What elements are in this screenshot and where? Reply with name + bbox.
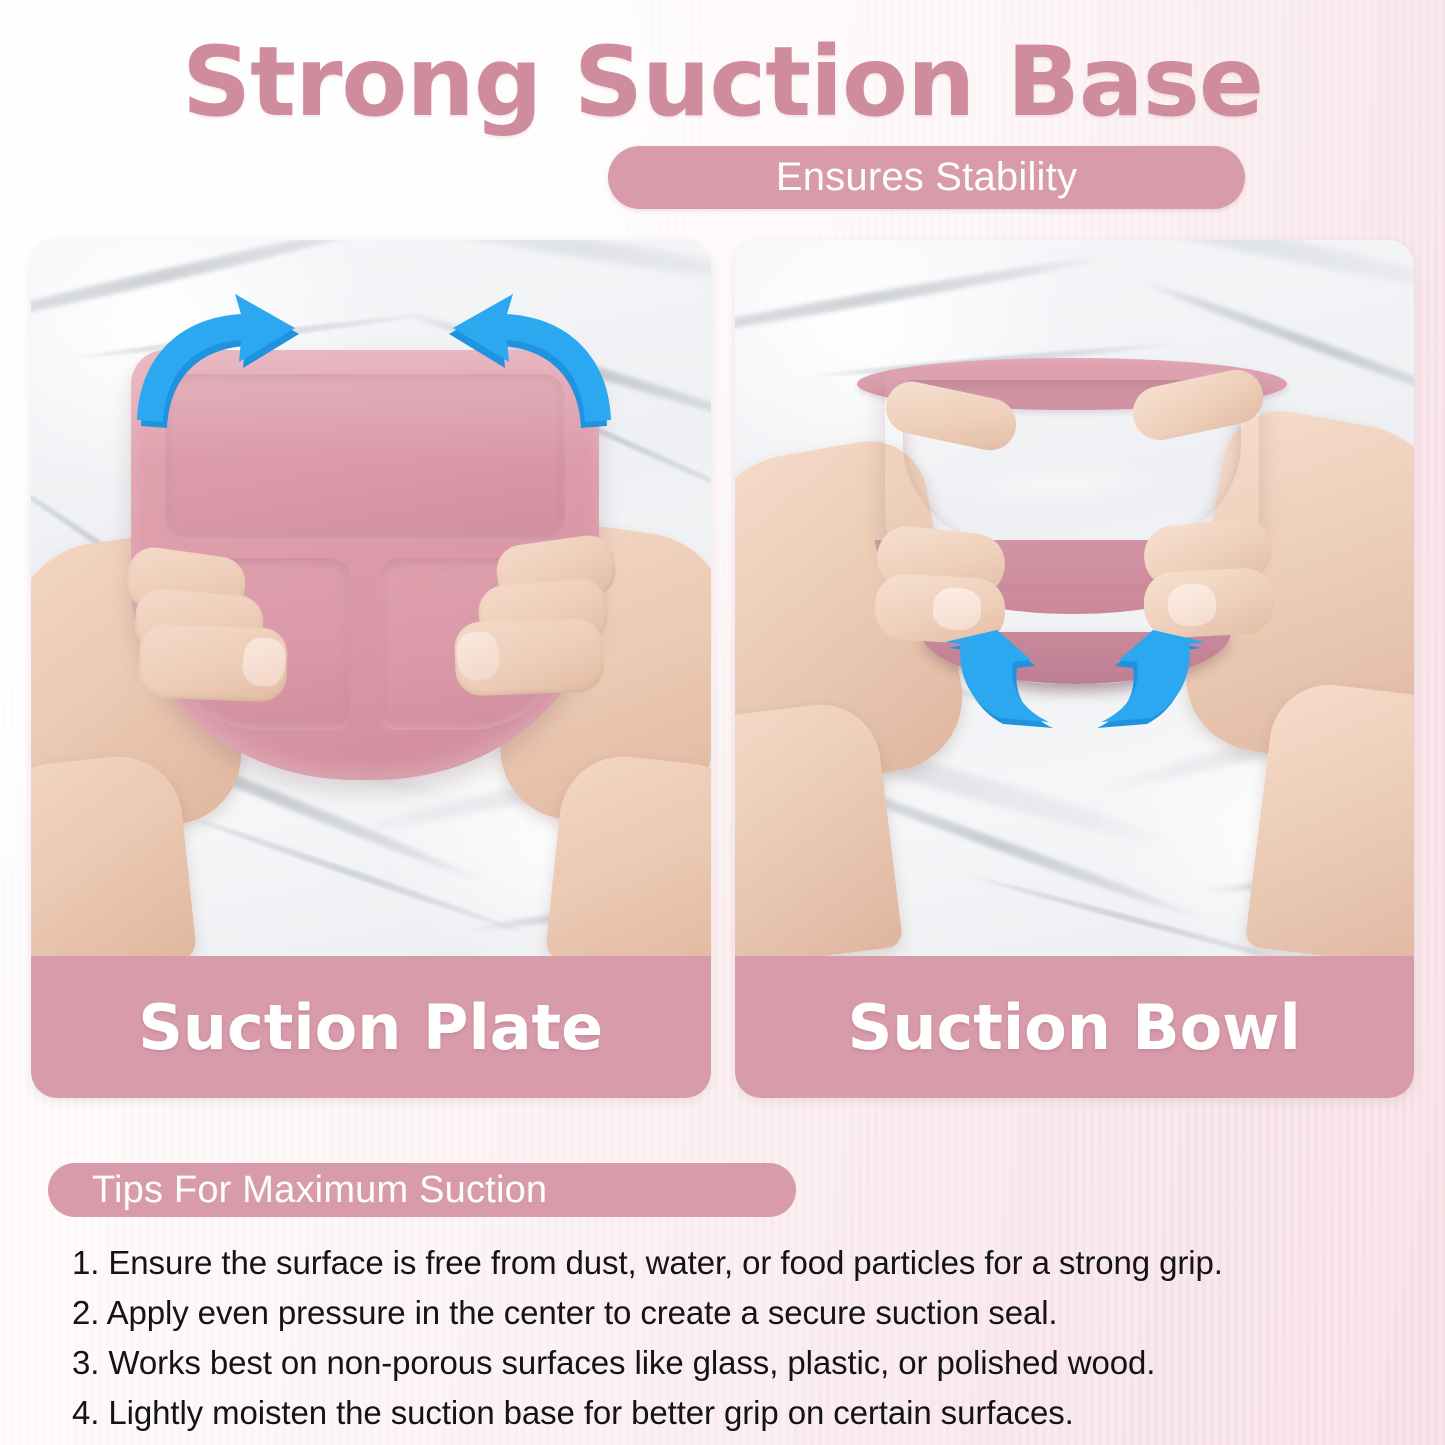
plate-scene — [31, 240, 711, 956]
tip-item-4: 4. Lightly moisten the suction base for … — [72, 1388, 1392, 1438]
tips-heading-text: Tips For Maximum Suction — [92, 1169, 547, 1212]
page-title: Strong Suction Base — [0, 34, 1445, 130]
blue-curved-arrow-right-icon — [431, 294, 621, 434]
caption-label: Suction Bowl — [848, 991, 1301, 1064]
blue-curved-arrow-left-icon — [127, 294, 317, 434]
product-panels: Suction Plate — [31, 240, 1414, 1098]
blue-up-arrow-right-icon — [1075, 618, 1205, 728]
panel-suction-bowl: Suction Bowl — [735, 240, 1415, 1098]
tips-heading-badge: Tips For Maximum Suction — [48, 1163, 796, 1217]
tip-item-2: 2. Apply even pressure in the center to … — [72, 1288, 1392, 1338]
caption-label: Suction Plate — [138, 991, 603, 1064]
bowl-photo — [735, 240, 1415, 956]
panel-suction-plate: Suction Plate — [31, 240, 711, 1098]
blue-up-arrow-left-icon — [945, 618, 1075, 728]
infographic-page: Strong Suction Base Ensures Stability — [0, 0, 1445, 1445]
subtitle-badge: Ensures Stability — [608, 146, 1245, 209]
tips-list: 1. Ensure the surface is free from dust,… — [72, 1238, 1392, 1438]
subtitle-text: Ensures Stability — [776, 155, 1077, 200]
bowl-scene — [735, 240, 1415, 956]
tip-item-3: 3. Works best on non-porous surfaces lik… — [72, 1338, 1392, 1388]
caption-banner-bowl: Suction Bowl — [735, 956, 1415, 1098]
plate-photo — [31, 240, 711, 956]
caption-banner-plate: Suction Plate — [31, 956, 711, 1098]
tip-item-1: 1. Ensure the surface is free from dust,… — [72, 1238, 1392, 1288]
